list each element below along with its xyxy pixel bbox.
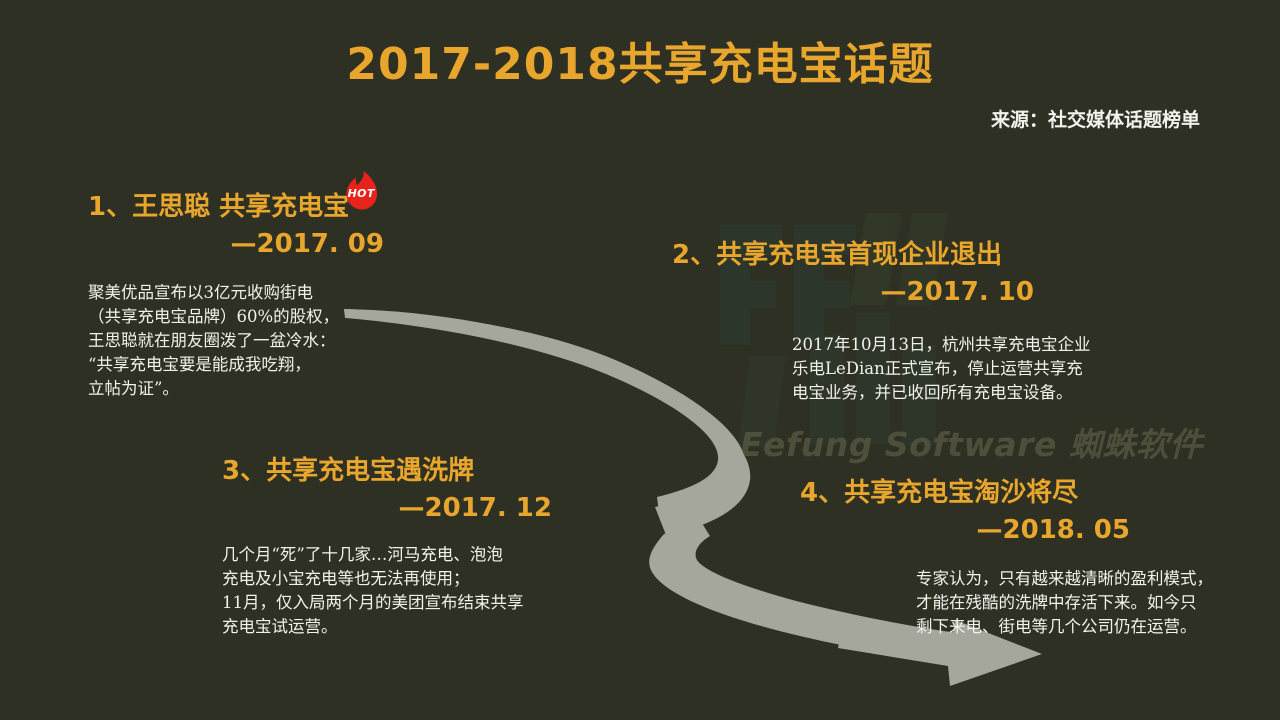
section-2-heading: 2、共享充电宝首现企业退出: [672, 234, 1002, 271]
section-4-date: —2018. 05: [800, 515, 1130, 545]
hot-badge-label: HOT: [339, 187, 383, 200]
section-3-date: —2017. 12: [222, 493, 552, 523]
section-1-date: —2017. 09: [88, 229, 384, 259]
section-4: 4、共享充电宝淘沙将尽 —2018. 05 专家认为，只有越来越清晰的盈利模式，…: [800, 472, 1150, 639]
section-2: 2、共享充电宝首现企业退出 —2017. 10 2017年10月13日，杭州共享…: [672, 234, 1042, 405]
section-3: 3、共享充电宝遇洗牌 —2017. 12 几个月“死”了十几家…河马充电、泡泡 …: [222, 450, 570, 639]
section-1-heading-text: 1、王思聪 共享充电宝: [88, 192, 349, 222]
section-4-heading: 4、共享充电宝淘沙将尽: [800, 472, 1078, 509]
infographic-slide: Eefung Software 蜘蛛软件 201: [0, 0, 1280, 720]
section-3-heading: 3、共享充电宝遇洗牌: [222, 450, 474, 487]
section-4-body: 专家认为，只有越来越清晰的盈利模式， 才能在残酷的洗牌中存活下来。如今只 剩下来…: [916, 567, 1256, 639]
page-title: 2017-2018共享充电宝话题: [0, 28, 1280, 92]
source-label: 来源：社交媒体话题榜单: [991, 105, 1200, 132]
hot-flame-icon: HOT: [339, 168, 383, 212]
section-1: 1、王思聪 共享充电宝 HOT —2017. 09 聚美优品宣布以3亿元收购街电…: [88, 186, 418, 401]
section-1-heading: 1、王思聪 共享充电宝 HOT: [88, 186, 349, 223]
section-3-body: 几个月“死”了十几家…河马充电、泡泡 充电及小宝充电等也无法再使用； 11月，仅…: [222, 543, 570, 639]
section-2-body: 2017年10月13日，杭州共享充电宝企业 乐电LeDian正式宣布，停止运营共…: [792, 333, 1132, 405]
section-2-date: —2017. 10: [672, 277, 1034, 307]
section-1-body: 聚美优品宣布以3亿元收购街电 （共享充电宝品牌）60%的股权， 王思聪就在朋友圈…: [88, 281, 418, 401]
